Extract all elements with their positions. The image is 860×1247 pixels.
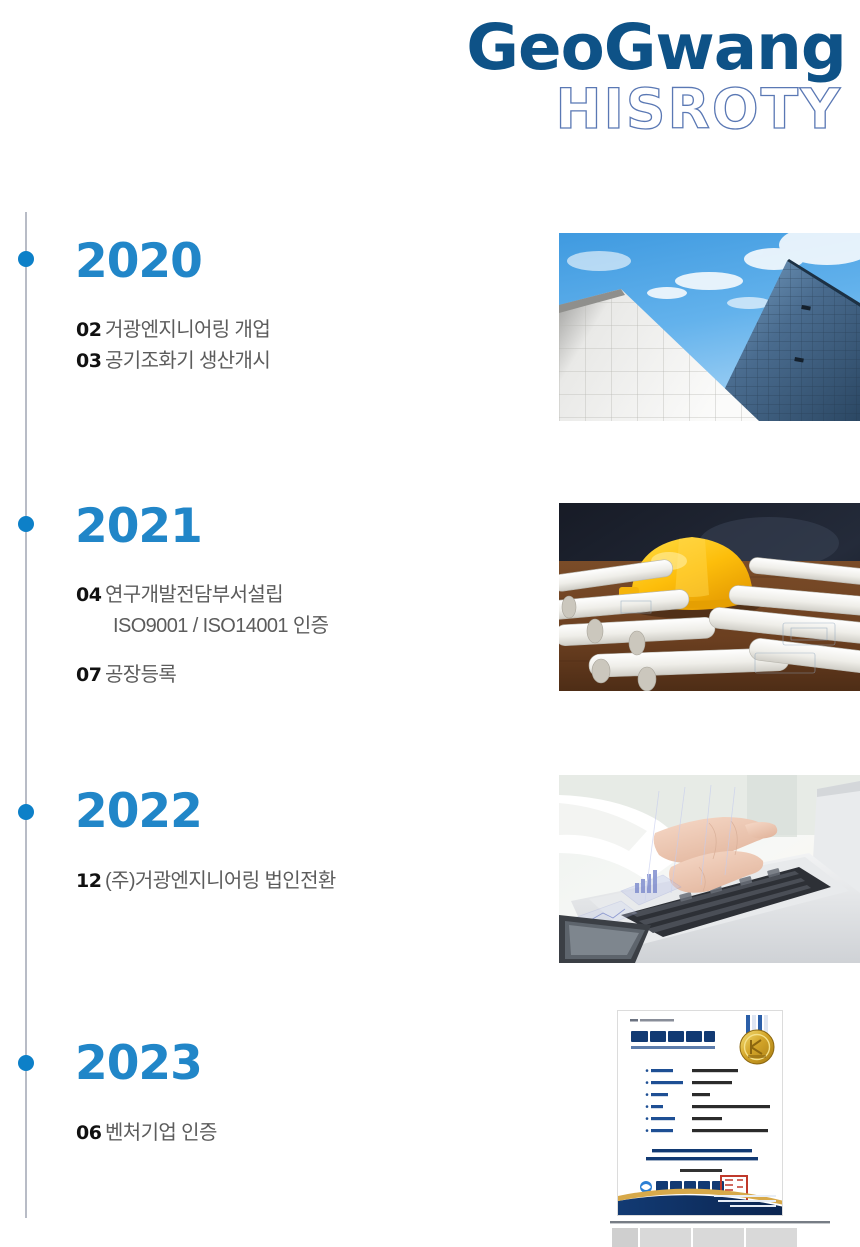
year-label-2021: 2021 <box>75 503 202 550</box>
event-text: (주)거광엔지니어링 법인전환 <box>105 864 336 893</box>
certificate-thumbnail-strip <box>612 1228 797 1247</box>
spacer <box>76 638 328 658</box>
event-text: 공장등록 <box>105 658 176 687</box>
event-text: 공기조화기 생산개시 <box>105 344 270 373</box>
timeline-dot-2021 <box>18 516 34 532</box>
list-item: 02 거광엔지니어링 개업 <box>76 313 270 342</box>
page-header: GeoGwang HISROTY <box>0 0 860 200</box>
timeline-dot-2023 <box>18 1055 34 1071</box>
certificate-footnote <box>600 1220 840 1225</box>
year-label-2022: 2022 <box>75 788 202 835</box>
timeline-dot-2022 <box>18 804 34 820</box>
event-list-2020: 02 거광엔지니어링 개업 03 공기조화기 생산개시 <box>76 313 270 375</box>
year-label-2023: 2023 <box>75 1040 202 1087</box>
modern-buildings-sky-photo <box>559 233 860 421</box>
hardhat-blueprints-photo <box>559 503 860 691</box>
list-item: 03 공기조화기 생산개시 <box>76 344 270 373</box>
thumbnail-item <box>746 1228 797 1247</box>
timeline-dot-2020 <box>18 251 34 267</box>
event-list-2023: 06 벤처기업 인증 <box>76 1116 217 1147</box>
event-text: 벤처기업 인증 <box>105 1116 217 1145</box>
event-month: 02 <box>76 319 105 341</box>
list-item: 04 연구개발전담부서설립 <box>76 578 328 607</box>
thumbnail-item <box>693 1228 744 1247</box>
event-text-continuation: ISO9001 / ISO14001 인증 <box>76 609 328 638</box>
event-month: 06 <box>76 1122 105 1144</box>
list-item: 12 (주)거광엔지니어링 법인전환 <box>76 864 336 893</box>
event-month: 07 <box>76 664 105 686</box>
venture-certificate-image <box>617 1010 783 1216</box>
event-list-2022: 12 (주)거광엔지니어링 법인전환 <box>76 864 336 895</box>
history-page: GeoGwang HISROTY 2020 02 거광엔지니어링 개업 03 공… <box>0 0 860 1247</box>
list-item: 06 벤처기업 인증 <box>76 1116 217 1145</box>
laptop-typing-hologram-photo <box>559 775 860 963</box>
event-month: 03 <box>76 350 105 372</box>
year-label-2020: 2020 <box>75 238 202 285</box>
event-list-2021: 04 연구개발전담부서설립 ISO9001 / ISO14001 인증 07 공… <box>76 578 328 689</box>
thumbnail-item <box>612 1228 638 1247</box>
event-text: 거광엔지니어링 개업 <box>105 313 270 342</box>
page-subtitle: HISROTY <box>555 82 842 137</box>
thumbnail-item <box>640 1228 691 1247</box>
event-month: 12 <box>76 870 105 892</box>
event-month: 04 <box>76 584 105 606</box>
page-title: GeoGwang <box>466 16 846 79</box>
list-item: 07 공장등록 <box>76 658 328 687</box>
event-text: 연구개발전담부서설립 <box>105 578 283 607</box>
